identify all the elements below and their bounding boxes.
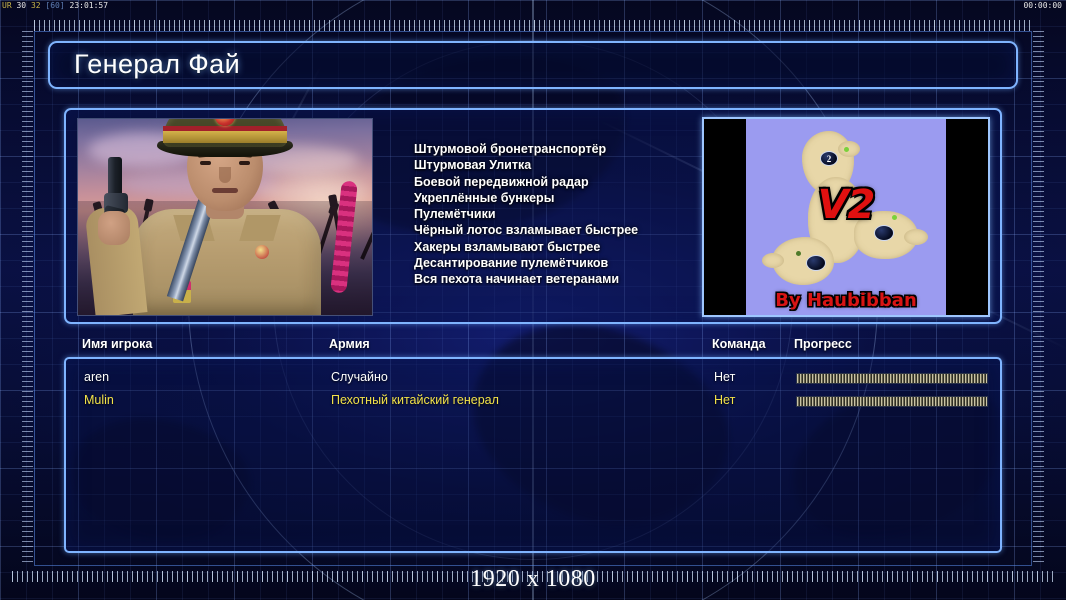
- table-row[interactable]: Mulin Пехотный китайский генерал Нет: [66, 390, 1000, 413]
- ruler-right: [1033, 31, 1044, 566]
- general-info-panel: Штурмовой бронетранспортёр Штурмовая Ули…: [64, 108, 1002, 324]
- ability-item: Укреплённые бункеры: [414, 190, 744, 206]
- map-resource-dot: [796, 251, 801, 256]
- player-team[interactable]: Нет: [714, 370, 735, 384]
- ability-item: Хакеры взламывают быстрее: [414, 239, 744, 255]
- osd-token-3: [60]: [45, 1, 64, 10]
- general-ability-list: Штурмовой бронетранспортёр Штурмовая Ули…: [414, 141, 744, 288]
- portrait-revolver-icon: [98, 157, 156, 221]
- ability-item: Боевой передвижной радар: [414, 174, 744, 190]
- map-resource-dot: [844, 147, 849, 152]
- portrait-cap-gold-band: [163, 131, 287, 143]
- map-landmass: [762, 253, 784, 268]
- player-table-header: Имя игрока Армия Команда Прогресс: [64, 337, 1002, 359]
- portrait-star-pin: [255, 245, 269, 259]
- player-progress-fill: [797, 374, 987, 383]
- portrait-collar-right: [239, 215, 280, 241]
- ability-item: Десантирование пулемётчиков: [414, 255, 744, 271]
- map-landmass: [838, 141, 860, 157]
- ability-item: Вся пехота начинает ветеранами: [414, 271, 744, 287]
- player-progress-bar: [796, 396, 988, 407]
- ability-item: Штурмовая Улитка: [414, 157, 744, 173]
- osd-token-0: UR: [2, 1, 12, 10]
- osd-token-4: 23:01:57: [70, 1, 109, 10]
- general-portrait: [77, 118, 373, 316]
- game-screen: UR 30 32 [60] 23:01:57 00:00:00 Генерал …: [0, 0, 1066, 600]
- page-title: Генерал Фай: [74, 49, 240, 80]
- map-landmass: [904, 229, 928, 245]
- portrait-nose: [219, 167, 231, 183]
- osd-token-1: 30: [16, 1, 26, 10]
- portrait-uniform: [133, 209, 321, 316]
- osd-token-2: 32: [31, 1, 41, 10]
- map-author-label: By Haubibban: [775, 290, 917, 311]
- ability-item: Пулемётчики: [414, 206, 744, 222]
- player-name: Mulin: [84, 393, 114, 407]
- column-header-team: Команда: [712, 337, 766, 351]
- portrait-eye-right: [239, 161, 250, 165]
- player-team[interactable]: Нет: [714, 393, 735, 407]
- ruler-left: [22, 31, 33, 566]
- portrait-cap-badge-icon: [215, 118, 235, 126]
- map-image: 2 V2 By Haubibban: [746, 119, 946, 315]
- portrait-mouth: [212, 188, 238, 193]
- column-header-progress: Прогресс: [794, 337, 852, 351]
- player-progress-fill: [797, 397, 987, 406]
- portrait-hand: [98, 211, 130, 245]
- portrait-eye-left: [200, 161, 211, 165]
- player-army[interactable]: Пехотный китайский генерал: [331, 393, 499, 407]
- match-timer: 00:00:00: [1023, 1, 1062, 10]
- ruler-top: [34, 20, 1032, 31]
- player-list-panel: aren Случайно Нет Mulin Пехотный китайск…: [64, 357, 1002, 553]
- ability-item: Штурмовой бронетранспортёр: [414, 141, 744, 157]
- title-panel: Генерал Фай: [48, 41, 1018, 89]
- column-header-army: Армия: [329, 337, 370, 351]
- column-header-name: Имя игрока: [82, 337, 152, 351]
- player-army[interactable]: Случайно: [331, 370, 388, 384]
- map-start-position: [806, 255, 826, 271]
- table-row[interactable]: aren Случайно Нет: [66, 367, 1000, 390]
- player-name: aren: [84, 370, 109, 384]
- start-position-label: 2: [827, 154, 832, 164]
- map-resource-dot: [892, 215, 897, 220]
- map-start-position: [874, 225, 894, 241]
- map-start-position: 2: [820, 151, 838, 166]
- ability-item: Чёрный лотос взламывает быстрее: [414, 222, 744, 238]
- debug-overlay-left: UR 30 32 [60] 23:01:57: [2, 1, 108, 10]
- map-version-label: V2: [818, 182, 875, 228]
- portrait-cap: [163, 118, 287, 147]
- map-preview[interactable]: 2 V2 By Haubibban: [702, 117, 990, 317]
- player-progress-bar: [796, 373, 988, 384]
- resolution-label: 1920 x 1080: [0, 566, 1066, 593]
